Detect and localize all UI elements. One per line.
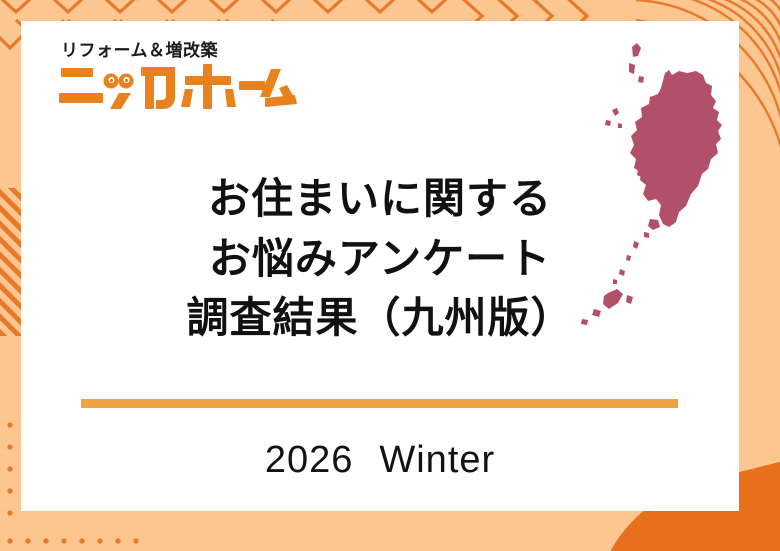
title-line-2: お悩みアンケート	[21, 229, 739, 289]
nikka-home-logo-icon	[59, 63, 297, 113]
poster-card: リフォーム＆増改築	[21, 21, 739, 511]
dot-pattern-vertical	[6, 419, 14, 529]
title-divider	[81, 399, 678, 408]
title-line-1: お住まいに関する	[21, 169, 739, 229]
dot-pattern-horizontal	[6, 537, 406, 545]
season-label: 2026Winter	[21, 439, 739, 482]
poster-title: お住まいに関する お悩みアンケート 調査結果（九州版）	[21, 169, 739, 348]
title-line-3: 調査結果（九州版）	[21, 288, 739, 348]
season-term: Winter	[379, 439, 495, 481]
brand-tagline: リフォーム＆増改築	[61, 43, 319, 60]
brand-logo: リフォーム＆増改築	[59, 43, 319, 113]
diagonal-stripe-pattern	[0, 188, 22, 336]
season-year: 2026	[265, 439, 354, 481]
poster-canvas: リフォーム＆増改築	[0, 0, 780, 551]
